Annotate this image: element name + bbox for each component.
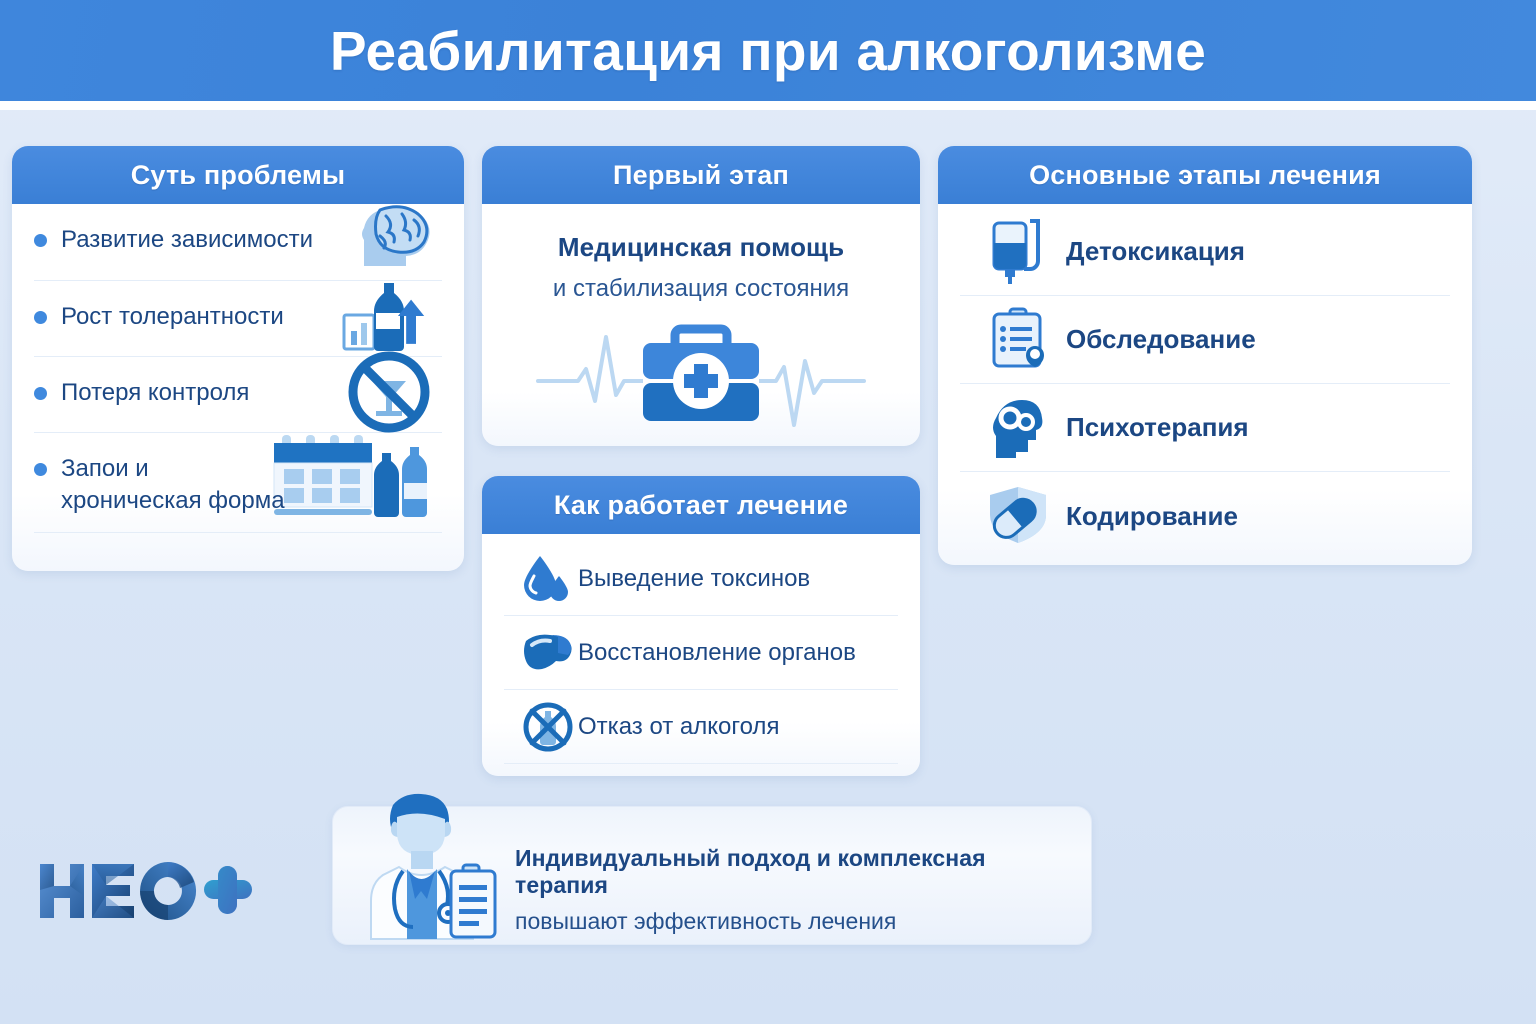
card-how-works-body: Выведение токсинов Восстановление органо… xyxy=(482,542,920,764)
first-stage-text: Медицинская помощь и стабилизация состоя… xyxy=(504,204,898,303)
card-problem-header: Суть проблемы xyxy=(12,146,464,204)
card-how-treatment-works: Как работает лечение Выведение токсинов xyxy=(482,476,920,776)
brain-head-icon xyxy=(350,200,436,271)
bullet-icon xyxy=(34,387,47,400)
problem-item-label: Запои и хроническая форма xyxy=(61,453,285,516)
first-stage-line2: и стабилизация состояния xyxy=(504,275,898,303)
card-how-works-title: Как работает лечение xyxy=(554,490,848,521)
card-problem-title: Суть проблемы xyxy=(131,160,346,191)
how-item-label: Выведение токсинов xyxy=(578,565,810,593)
stage-item-label: Кодирование xyxy=(1066,501,1238,532)
iv-drip-bag-icon xyxy=(988,217,1066,287)
problem-item-label: Потеря контроля xyxy=(61,377,249,409)
list-item[interactable]: Рост толерантности xyxy=(34,281,442,357)
footer-text: Индивидуальный подход и комплексная тера… xyxy=(515,845,1075,935)
card-how-works-header: Как работает лечение xyxy=(482,476,920,534)
card-first-stage: Первый этап Медицинская помощь и стабили… xyxy=(482,146,920,446)
card-first-stage-body: Медицинская помощь и стабилизация состоя… xyxy=(482,204,920,429)
how-item-label: Восстановление органов xyxy=(578,639,856,667)
clipboard-checkup-icon xyxy=(988,307,1066,373)
card-first-stage-title: Первый этап xyxy=(613,160,789,191)
first-aid-kit-ecg-icon xyxy=(504,319,898,429)
card-main-stages-header: Основные этапы лечения xyxy=(938,146,1472,204)
no-bottle-crossed-icon xyxy=(522,701,578,753)
stage-item-label: Психотерапия xyxy=(1066,412,1249,443)
footer-line1: Индивидуальный подход и комплексная тера… xyxy=(515,845,1075,899)
liver-icon xyxy=(522,631,578,675)
list-item[interactable]: Обследование xyxy=(960,296,1450,384)
list-item[interactable]: Кодирование xyxy=(960,472,1450,560)
list-item[interactable]: Выведение токсинов xyxy=(504,542,898,616)
card-first-stage-header: Первый этап xyxy=(482,146,920,204)
header-underline xyxy=(0,101,1536,110)
list-item[interactable]: Отказ от алкоголя xyxy=(504,690,898,764)
head-gears-icon xyxy=(988,396,1066,460)
bullet-icon xyxy=(34,311,47,324)
footer-line2: повышают эффективность лечения xyxy=(515,908,1075,935)
water-drop-icon xyxy=(522,554,578,604)
card-main-stages-title: Основные этапы лечения xyxy=(1029,160,1381,191)
list-item[interactable]: Восстановление органов xyxy=(504,616,898,690)
calendar-bottles-icon xyxy=(270,425,440,526)
list-item[interactable]: Развитие зависимости xyxy=(34,204,442,281)
problem-item-label: Рост толерантности xyxy=(61,301,284,333)
neo-plus-logo[interactable] xyxy=(36,856,256,926)
list-item[interactable]: Детоксикация xyxy=(960,208,1450,296)
how-item-label: Отказ от алкоголя xyxy=(578,713,779,741)
card-problem: Суть проблемы Развитие зависимости Рост … xyxy=(12,146,464,571)
list-item[interactable]: Потеря контроля xyxy=(34,357,442,433)
stage-item-label: Детоксикация xyxy=(1066,236,1245,267)
bullet-icon xyxy=(34,463,47,476)
doctor-clipboard-icon xyxy=(355,791,530,946)
bottle-chart-arrow-up-icon xyxy=(342,275,434,358)
pill-shield-icon xyxy=(988,485,1066,547)
bullet-icon xyxy=(34,234,47,247)
card-problem-body: Развитие зависимости Рост толерантности xyxy=(12,204,464,533)
footer-banner: Индивидуальный подход и комплексная тера… xyxy=(332,806,1092,945)
first-stage-line1: Медицинская помощь xyxy=(504,232,898,263)
stage-item-label: Обследование xyxy=(1066,324,1256,355)
card-main-stages: Основные этапы лечения Детоксикация xyxy=(938,146,1472,565)
page-header: Реабилитация при алкоголизме xyxy=(0,0,1536,101)
list-item[interactable]: Психотерапия xyxy=(960,384,1450,472)
problem-item-label: Развитие зависимости xyxy=(61,224,313,256)
list-item[interactable]: Запои и хроническая форма xyxy=(34,433,442,533)
page-title: Реабилитация при алкоголизме xyxy=(330,19,1206,83)
card-main-stages-body: Детоксикация Обследование xyxy=(938,208,1472,560)
